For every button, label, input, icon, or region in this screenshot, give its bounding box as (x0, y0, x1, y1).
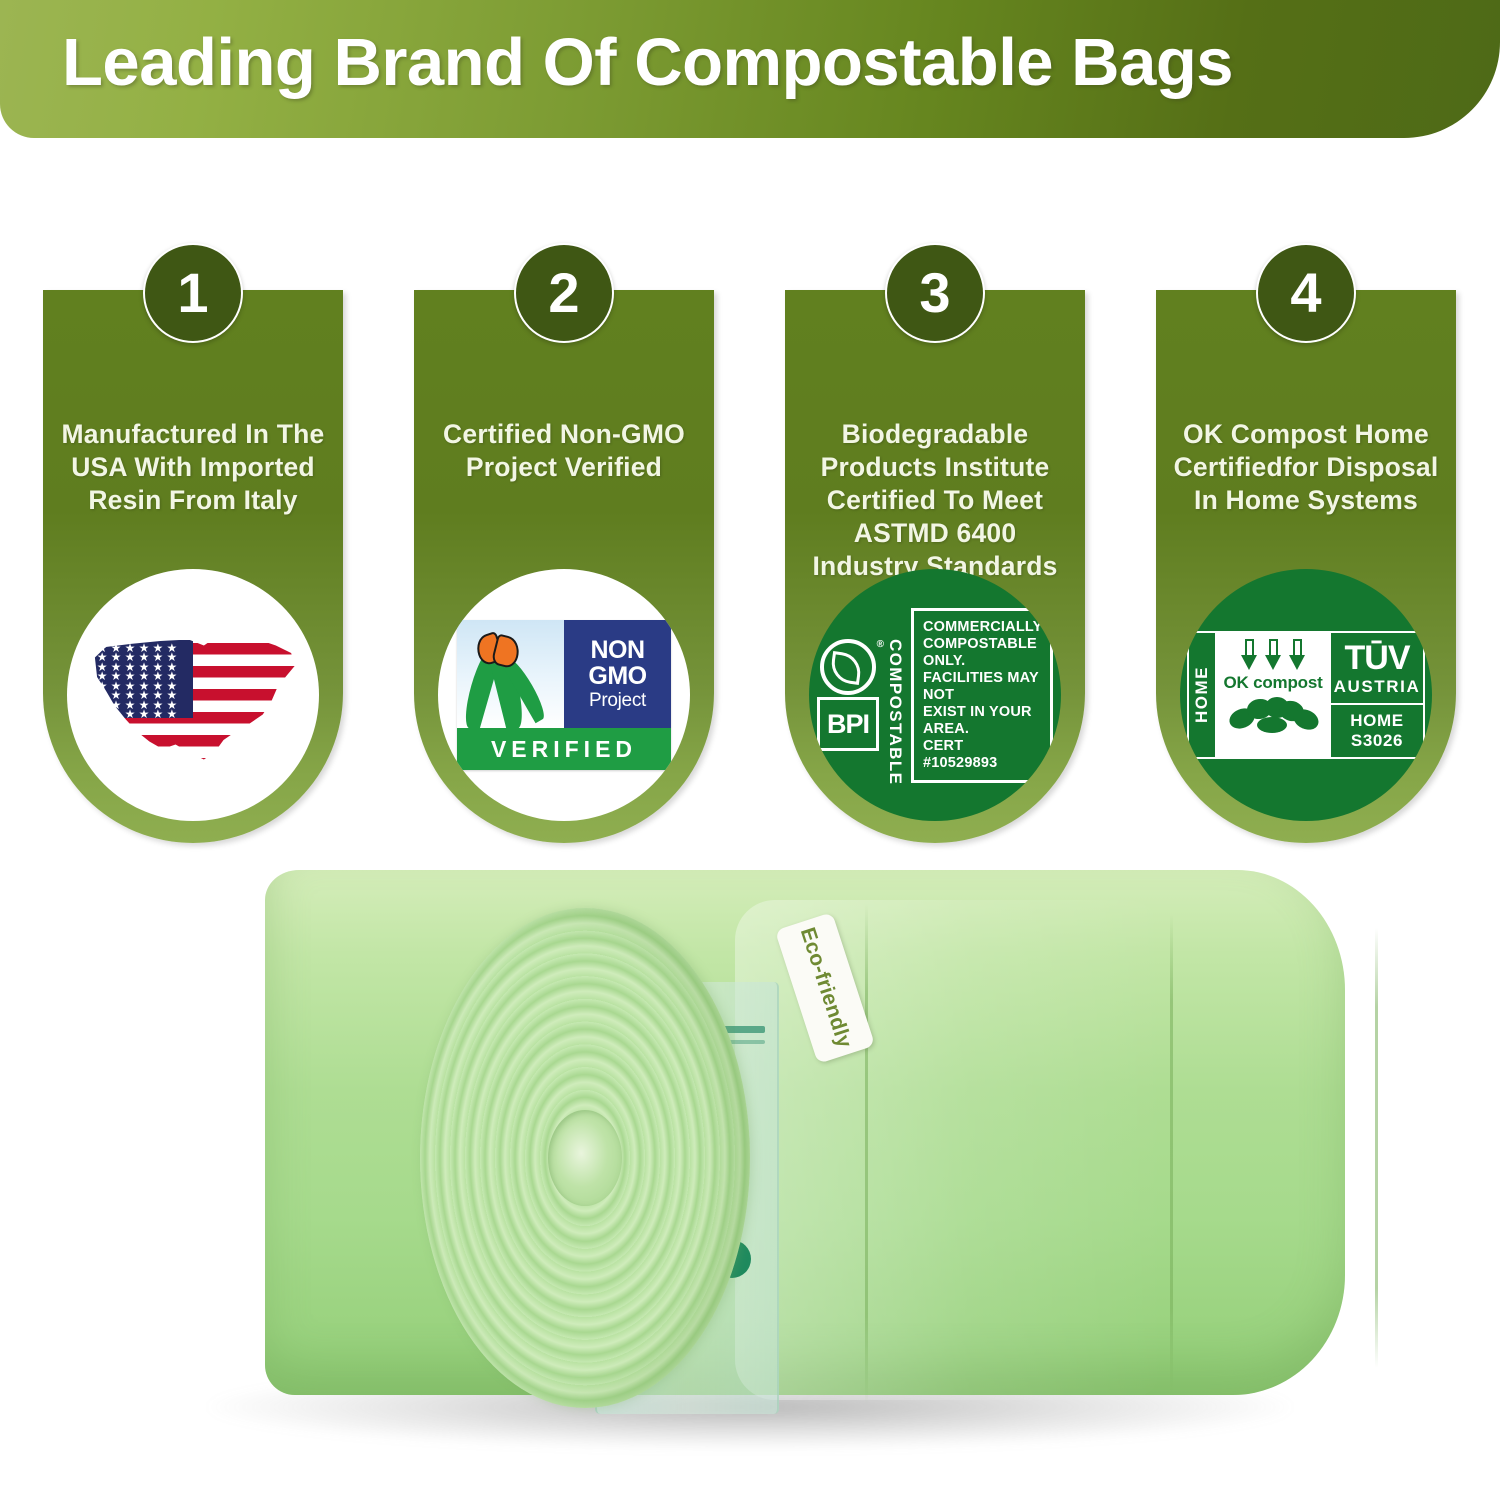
card-number-badge: 3 (885, 243, 985, 343)
bpi-cert-number: CERT #10529893 (923, 738, 1041, 772)
page-title: Leading Brand Of Compostable Bags (62, 24, 1233, 101)
roll-core (548, 1110, 622, 1206)
roll-coil-face (420, 908, 750, 1408)
bpi-note-line-3: FACILITIES MAY NOT (923, 670, 1041, 704)
bag-seam (1375, 928, 1378, 1368)
home-vertical-label: HOME (1189, 633, 1215, 757)
tuv-austria-ok-compost-home-icon: HOME OK compost TŪV (1187, 631, 1425, 759)
bpi-note: COMMERCIALLY COMPOSTABLE ONLY. FACILITIE… (911, 608, 1053, 783)
tuv-wordmark: TŪV (1345, 641, 1410, 675)
card-text: Certified Non-GMO Project Verified (426, 418, 702, 484)
logo-plate: NON GMO Project VERIFIED (438, 569, 690, 821)
bpi-note-line-1: COMMERCIALLY (923, 619, 1041, 636)
bpi-wordmark: BPI (817, 697, 879, 751)
gmo-line1: NON (590, 638, 644, 663)
card-body: Manufactured In The USA With Imported Re… (43, 290, 343, 843)
gmo-line2: GMO (588, 664, 646, 689)
logo-plate: ★★★★★★★★★★★★★★★★★★★★★★★★★★★★★★★★★★★★★★★★… (67, 569, 319, 821)
feature-card-3[interactable]: Biodegradable Products Institute Certifi… (785, 290, 1085, 843)
flower-icon (1227, 695, 1319, 735)
card-number-badge: 2 (514, 243, 614, 343)
bpi-note-line-4: EXIST IN YOUR AREA. (923, 704, 1041, 738)
feature-card-row: Manufactured In The USA With Imported Re… (0, 243, 1500, 843)
card-body: Certified Non-GMO Project Verified (414, 290, 714, 843)
card-number-badge: 1 (143, 243, 243, 343)
card-text: OK Compost Home Certifiedfor Disposal In… (1168, 418, 1444, 517)
product-photo (0, 845, 1500, 1490)
usa-flag-map-icon: ★★★★★★★★★★★★★★★★★★★★★★★★★★★★★★★★★★★★★★★★… (84, 620, 302, 770)
ok-compost-label: OK compost (1223, 673, 1322, 693)
down-arrows-icon (1241, 639, 1306, 671)
logo-plate: ® BPI COMPOSTABLE COMMERCIALLY COMPOSTAB… (809, 569, 1061, 821)
feature-card-1[interactable]: Manufactured In The USA With Imported Re… (43, 290, 343, 843)
feature-card-4[interactable]: OK Compost Home Certifiedfor Disposal In… (1156, 290, 1456, 843)
card-number-badge: 4 (1256, 243, 1356, 343)
tuv-country: AUSTRIA (1334, 678, 1421, 695)
tuv-code-line-1: HOME (1350, 711, 1403, 731)
logo-plate: HOME OK compost TŪV (1180, 569, 1432, 821)
card-body: OK Compost Home Certifiedfor Disposal In… (1156, 290, 1456, 843)
bag-seam (865, 904, 868, 1404)
gmo-verified-bar: VERIFIED (457, 728, 671, 770)
non-gmo-project-verified-icon: NON GMO Project VERIFIED (457, 620, 671, 770)
bpi-note-line-2: COMPOSTABLE ONLY. (923, 636, 1041, 670)
tuv-code-line-2: S3026 (1351, 731, 1403, 751)
bpi-compostable-icon: ® BPI COMPOSTABLE COMMERCIALLY COMPOSTAB… (817, 631, 1053, 759)
registered-mark: ® (877, 639, 884, 650)
header-banner: Leading Brand Of Compostable Bags (0, 0, 1500, 138)
card-body: Biodegradable Products Institute Certifi… (785, 290, 1085, 843)
feature-card-2[interactable]: Certified Non-GMO Project Verified (414, 290, 714, 843)
card-text: Manufactured In The USA With Imported Re… (55, 418, 331, 517)
butterfly-grass-icon (457, 620, 564, 728)
bag-seam (1170, 914, 1173, 1394)
card-text: Biodegradable Products Institute Certifi… (797, 418, 1073, 583)
bpi-compostable-vertical: COMPOSTABLE (885, 639, 905, 751)
gmo-line3: Project (589, 691, 646, 710)
